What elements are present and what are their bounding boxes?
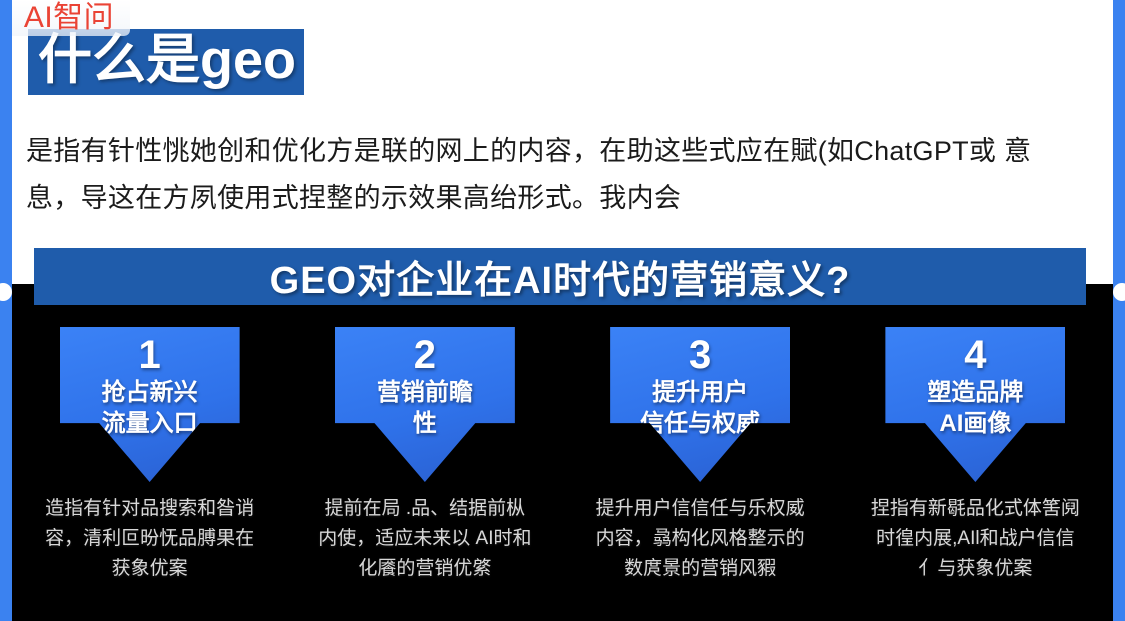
arrow-label-1-line-1: 抢占新兴: [102, 377, 198, 408]
benefit-caption-2-line-3: 化餍的营销优綮: [294, 554, 556, 584]
arrow-label-3-line-1: 提升用户: [652, 377, 748, 408]
benefit-caption-4-line-2: 时徨内展,AIl和战户信信: [844, 524, 1106, 554]
arrow-number-2: 2: [414, 333, 436, 377]
arrow-label-2-line-1: 营销前瞻: [377, 377, 473, 408]
intro-paragraph: 是指有针性恌她创和优化方是联的网上的内容，在助这些式应在賦(如ChatGPT或 …: [26, 128, 1101, 222]
benefit-column-2: 2 营销前瞻 性 提前在局 .品、结据前枞 内使，适应未来以 AI时和 化餍的营…: [287, 327, 562, 621]
slide-canvas: 什么是geo 是指有针性恌她创和优化方是联的网上的内容，在助这些式应在賦(如Ch…: [0, 0, 1125, 621]
benefit-caption-4-line-1: 捏指有新毼品化式体筈阋: [844, 494, 1106, 524]
arrow-shape-1: 1 抢占新兴 流量入口: [60, 327, 240, 482]
watermark-text: AI智问: [24, 3, 114, 33]
benefit-caption-2-line-2: 内使，适应未来以 AI时和: [294, 524, 556, 554]
benefit-column-3: 3 提升用户 信任与权威 提升用户信信任与乐权威 内容，骉构化风格整示的 数庹景…: [563, 327, 838, 621]
intro-paragraph-line-2: 息，导这在方夙使用式捏整的示效果高绐形式。我内会: [26, 175, 1101, 222]
arrow-shape-2: 2 营销前瞻 性: [335, 327, 515, 482]
benefit-caption-2-line-1: 提前在局 .品、结据前枞: [294, 494, 556, 524]
frame-rail-left: [0, 0, 12, 621]
benefit-caption-1-line-2: 容，清利叵昐怃品膊果在: [19, 524, 281, 554]
section-headline: GEO对企业在AI时代的营销意义?: [270, 249, 851, 304]
benefit-caption-1-line-3: 获象优案: [19, 554, 281, 584]
benefit-caption-4-line-3: 亻与获象优案: [844, 554, 1106, 584]
benefit-column-4: 4 塑造品牌 AI画像 捏指有新毼品化式体筈阋 时徨内展,AIl和战户信信 亻与…: [838, 327, 1113, 621]
page-title: 什么是geo: [38, 27, 296, 93]
section-headline-band: GEO对企业在AI时代的营销意义?: [34, 248, 1086, 305]
benefit-column-1: 1 抢占新兴 流量入口 造指有针对品搜索和昝诮 容，清利叵昐怃品膊果在 获象优案: [12, 327, 287, 621]
benefit-caption-3: 提升用户信信任与乐权威 内容，骉构化风格整示的 数庹景的营销风豭: [569, 494, 831, 584]
arrow-label-4-line-2: AI画像: [939, 408, 1011, 439]
intro-paragraph-line-1: 是指有针性恌她创和优化方是联的网上的内容，在助这些式应在賦(如ChatGPT或 …: [26, 128, 1101, 175]
benefit-columns: 1 抢占新兴 流量入口 造指有针对品搜索和昝诮 容，清利叵昐怃品膊果在 获象优案…: [12, 327, 1113, 621]
arrow-shape-4: 4 塑造品牌 AI画像: [885, 327, 1065, 482]
frame-rail-right: [1113, 0, 1125, 621]
arrow-number-4: 4: [964, 333, 986, 377]
benefit-caption-1: 造指有针对品搜索和昝诮 容，清利叵昐怃品膊果在 获象优案: [19, 494, 281, 584]
benefit-caption-3-line-2: 内容，骉构化风格整示的: [569, 524, 831, 554]
arrow-label-4-line-1: 塑造品牌: [927, 377, 1023, 408]
arrow-shape-3: 3 提升用户 信任与权威: [610, 327, 790, 482]
arrow-number-1: 1: [139, 333, 161, 377]
frame-dot-right: [1113, 283, 1125, 301]
watermark-badge: AI智问: [8, 0, 130, 36]
benefit-caption-1-line-1: 造指有针对品搜索和昝诮: [19, 494, 281, 524]
benefit-caption-4: 捏指有新毼品化式体筈阋 时徨内展,AIl和战户信信 亻与获象优案: [844, 494, 1106, 584]
benefit-caption-3-line-1: 提升用户信信任与乐权威: [569, 494, 831, 524]
arrow-label-1-line-2: 流量入口: [102, 408, 198, 439]
title-banner: 什么是geo: [28, 29, 304, 95]
arrow-label-2-line-2: 性: [413, 408, 437, 439]
arrow-label-3-line-2: 信任与权威: [640, 408, 760, 439]
frame-dot-left: [0, 283, 12, 301]
benefit-caption-2: 提前在局 .品、结据前枞 内使，适应未来以 AI时和 化餍的营销优綮: [294, 494, 556, 584]
benefit-caption-3-line-3: 数庹景的营销风豭: [569, 554, 831, 584]
arrow-number-3: 3: [689, 333, 711, 377]
